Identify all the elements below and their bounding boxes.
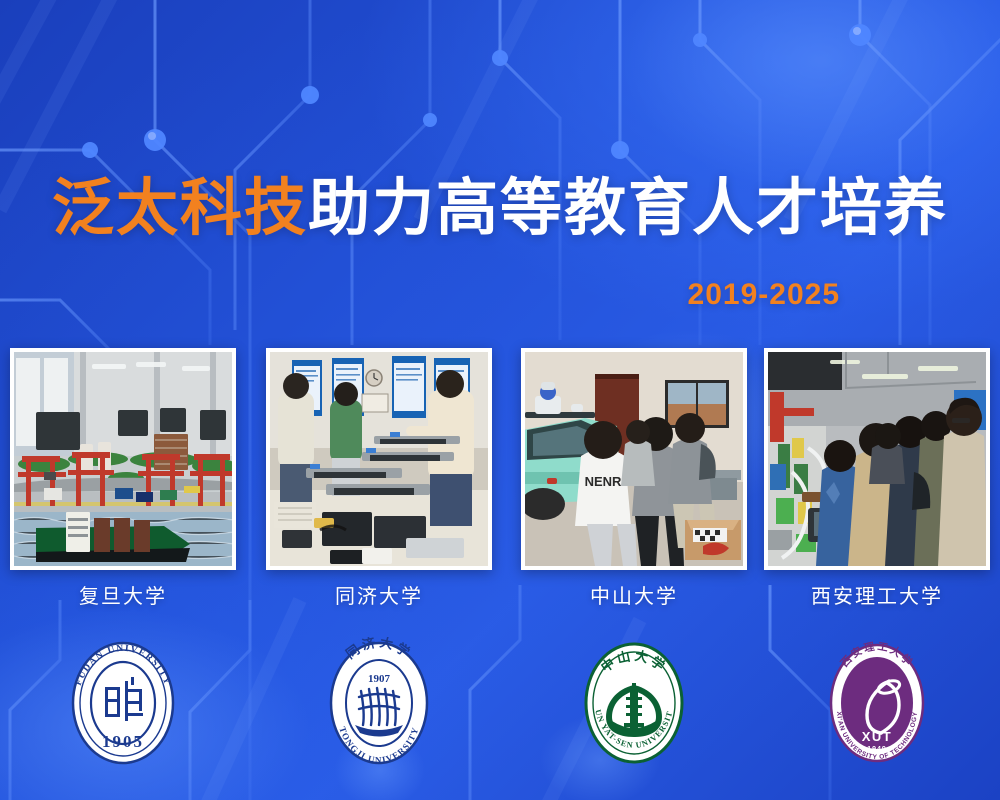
title-highlight: 泛太科技 (52, 174, 308, 243)
logo-slot-tongji: 同济大学 TONGJI UNIVERSITY 1907 (266, 628, 492, 778)
page-title: 泛太科技助力高等教育人才培养 (0, 178, 1000, 240)
logo-slot-sysu: 中山大学 SUN YAT-SEN UNIVERSITY (521, 628, 747, 778)
svg-text:1907: 1907 (368, 673, 391, 685)
subtitle-year-range: 2019-2025 (688, 278, 840, 312)
logo-slot-xut: 西安理工大学 XI'AN UNIVERSITY OF TECHNOLOGY XU… (764, 628, 990, 778)
photo-port-city-scale-model-lab (14, 352, 232, 566)
caption-university-1: 同济大学 (266, 580, 492, 609)
sun-yat-sen-university-logo: 中山大学 SUN YAT-SEN UNIVERSITY (576, 637, 692, 769)
svg-text:NENR: NENR (585, 474, 622, 489)
university-logo-row: FUDAN UNIVERSITY 1905 (0, 628, 1000, 778)
presentation-slide: 泛太科技助力高等教育人才培养 2019-2025 (0, 0, 1000, 800)
caption-university-0: 复旦大学 (10, 580, 236, 609)
title-rest: 助力高等教育人才培养 (308, 174, 948, 243)
photo-card-tongji (266, 348, 492, 570)
svg-text:1905: 1905 (102, 732, 144, 751)
svg-text:1949: 1949 (867, 746, 887, 753)
title-block: 泛太科技助力高等教育人才培养 (0, 178, 1000, 240)
photo-students-assembling-lab-equipment (270, 352, 488, 566)
svg-text:XUT: XUT (862, 729, 893, 744)
fudan-university-logo: FUDAN UNIVERSITY 1905 (65, 637, 181, 769)
photo-card-row: NENR (0, 348, 1000, 570)
tongji-university-logo: 同济大学 TONGJI UNIVERSITY 1907 (321, 637, 437, 769)
logo-slot-fudan: FUDAN UNIVERSITY 1905 (10, 628, 236, 778)
photo-students-autonomous-vehicle: NENR (525, 352, 743, 566)
caption-university-2: 中山大学 (521, 580, 747, 609)
photo-card-fudan (10, 348, 236, 570)
photo-students-observing-industrial-rig (768, 352, 986, 566)
caption-university-3: 西安理工大学 (764, 580, 990, 609)
photo-card-sysu: NENR (521, 348, 747, 570)
xian-university-of-technology-logo: 西安理工大学 XI'AN UNIVERSITY OF TECHNOLOGY XU… (819, 637, 935, 769)
photo-card-xut (764, 348, 990, 570)
